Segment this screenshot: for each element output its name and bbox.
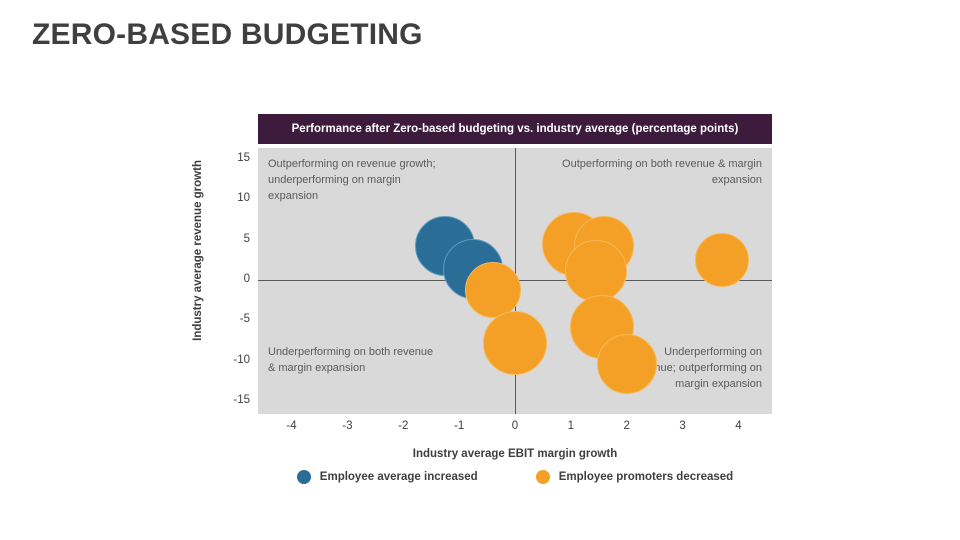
- y-axis-label: Industry average revenue growth: [192, 160, 204, 341]
- legend-label: Employee promoters decreased: [559, 471, 734, 483]
- legend-label: Employee average increased: [320, 471, 478, 483]
- x-tick-label: 0: [500, 420, 530, 432]
- x-tick-label: -3: [332, 420, 362, 432]
- bubble-point[interactable]: [483, 311, 547, 375]
- y-tick-label: 10: [220, 192, 250, 204]
- bubble-point[interactable]: [695, 233, 749, 287]
- chart-legend: Employee average increasedEmployee promo…: [258, 470, 772, 484]
- y-tick-label: -10: [220, 354, 250, 366]
- x-tick-label: -2: [388, 420, 418, 432]
- slide-canvas: ZERO-BASED BUDGETING Performance after Z…: [0, 0, 960, 540]
- x-axis-label: Industry average EBIT margin growth: [258, 448, 772, 460]
- x-tick-label: -1: [444, 420, 474, 432]
- x-tick-label: 3: [668, 420, 698, 432]
- x-tick-label: 4: [723, 420, 753, 432]
- bubble-point[interactable]: [465, 262, 521, 318]
- page-title: ZERO-BASED BUDGETING: [32, 18, 423, 52]
- bubble-point[interactable]: [597, 334, 657, 394]
- y-tick-label: -5: [220, 313, 250, 325]
- legend-item[interactable]: Employee average increased: [297, 470, 478, 484]
- y-tick-label: 15: [220, 152, 250, 164]
- chart-title-banner: Performance after Zero-based budgeting v…: [258, 114, 772, 144]
- quadrant-note-top-left: Outperforming on revenue growth; underpe…: [268, 156, 448, 204]
- quadrant-note-top-right: Outperforming on both revenue & margin e…: [557, 156, 762, 188]
- y-tick-label: 0: [220, 273, 250, 285]
- legend-item[interactable]: Employee promoters decreased: [536, 470, 734, 484]
- bubble-point[interactable]: [565, 240, 627, 302]
- bubble-chart: Performance after Zero-based budgeting v…: [258, 114, 772, 414]
- legend-swatch-icon: [297, 470, 311, 484]
- x-tick-label: -4: [277, 420, 307, 432]
- plot-area: Outperforming on revenue growth; underpe…: [258, 148, 772, 414]
- legend-swatch-icon: [536, 470, 550, 484]
- x-tick-label: 2: [612, 420, 642, 432]
- y-tick-label: -15: [220, 394, 250, 406]
- quadrant-note-bottom-left: Underperforming on both revenue & margin…: [268, 344, 438, 376]
- y-tick-label: 5: [220, 233, 250, 245]
- x-tick-label: 1: [556, 420, 586, 432]
